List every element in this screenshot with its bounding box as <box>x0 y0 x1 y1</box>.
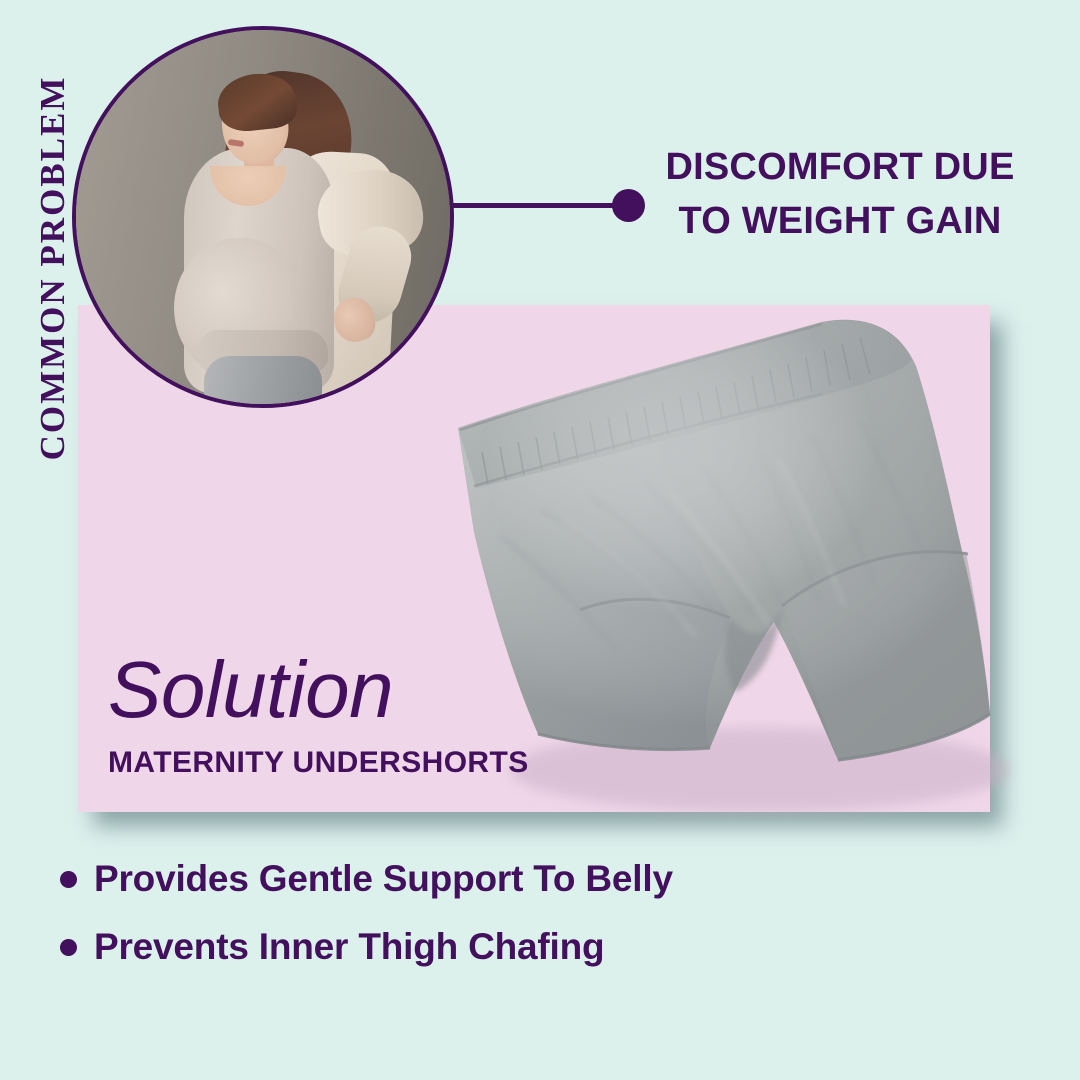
headline: DISCOMFORT DUE TO WEIGHT GAIN <box>620 140 1060 249</box>
problem-photo <box>72 26 454 408</box>
common-problem-label: COMMON PROBLEM <box>33 33 73 503</box>
solution-title: Solution <box>108 650 393 730</box>
solution-subtitle: MATERNITY UNDERSHORTS <box>108 746 529 780</box>
list-item: Prevents Inner Thigh Chafing <box>60 913 960 981</box>
infographic-canvas: COMMON PROBLEM DISCOMFORT DUE <box>0 0 1080 1080</box>
headline-line-2: TO WEIGHT GAIN <box>620 194 1060 248</box>
benefit-text: Prevents Inner Thigh Chafing <box>94 926 604 968</box>
photo-backdrop <box>76 30 450 404</box>
callout-connector-line <box>452 203 624 208</box>
benefit-text: Provides Gentle Support To Belly <box>94 858 673 900</box>
headline-line-1: DISCOMFORT DUE <box>620 140 1060 194</box>
benefits-list: Provides Gentle Support To Belly Prevent… <box>60 845 960 981</box>
list-item: Provides Gentle Support To Belly <box>60 845 960 913</box>
bullet-dot-icon <box>60 939 77 956</box>
bullet-dot-icon <box>60 871 77 888</box>
leggings <box>204 356 322 408</box>
